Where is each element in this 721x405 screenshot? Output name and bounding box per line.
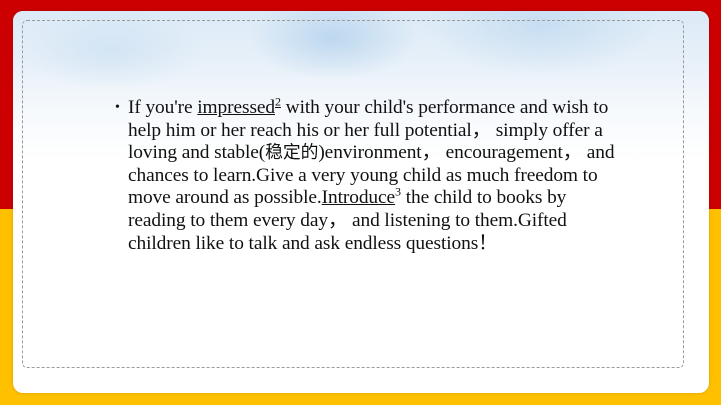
slide-content-panel: If you're impressed2 with your child's p… (13, 11, 709, 393)
content-placeholder[interactable]: If you're impressed2 with your child's p… (22, 20, 684, 368)
bullet-list: If you're impressed2 with your child's p… (115, 97, 615, 255)
glossary-term-impressed[interactable]: impressed (197, 97, 275, 118)
list-item[interactable]: If you're impressed2 with your child's p… (115, 97, 615, 255)
text-segment-intro: If you're (128, 97, 197, 118)
glossary-term-introduce[interactable]: Introduce (322, 187, 395, 208)
presentation-slide: If you're impressed2 with your child's p… (0, 0, 721, 405)
chinese-gloss-stable: 稳定的 (265, 142, 318, 163)
